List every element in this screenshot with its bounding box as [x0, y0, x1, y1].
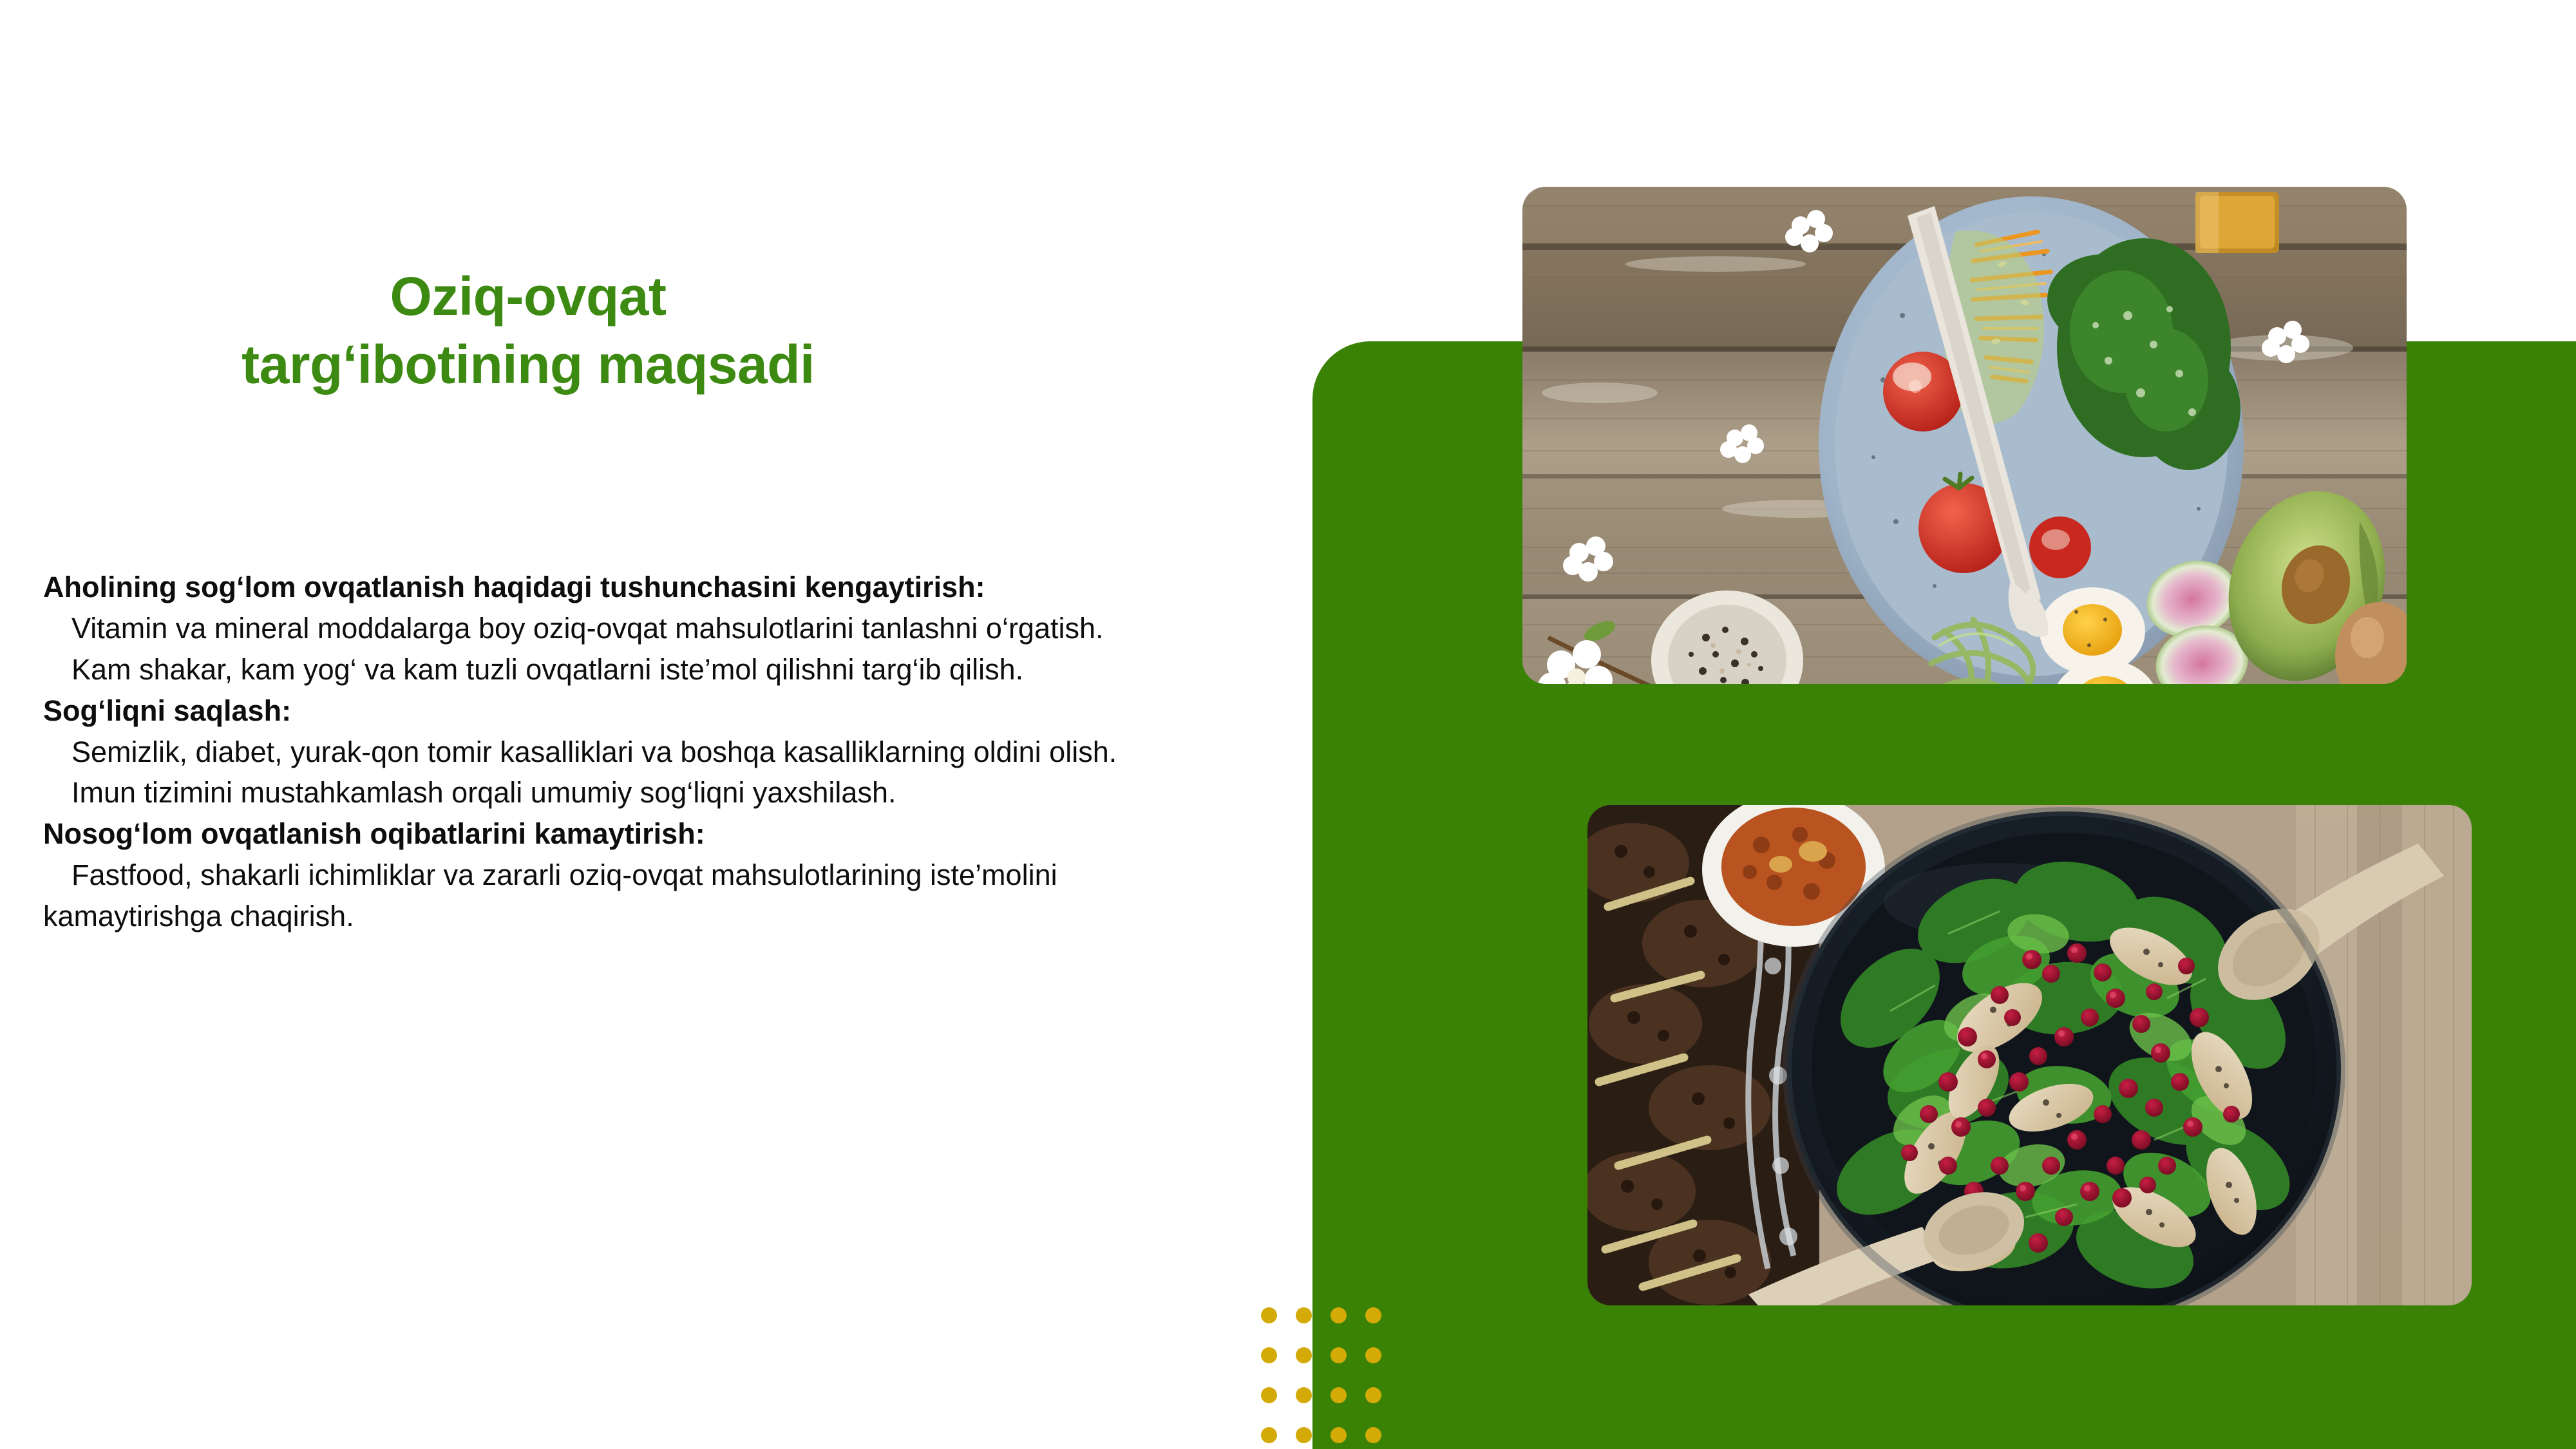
decor-dot [1331, 1307, 1347, 1323]
decor-dot [1331, 1387, 1347, 1403]
decor-dot [1261, 1347, 1277, 1363]
decor-dot [1296, 1387, 1312, 1403]
slide-body: Aholining sog‘lom ovqatlanish haqidagi t… [43, 567, 1202, 937]
slide-title-line-2: targ‘ibotining maqsadi [39, 331, 1018, 399]
healthy-bowl-photo [1522, 187, 2407, 684]
decor-dot [1296, 1347, 1312, 1363]
decor-dot [1365, 1427, 1381, 1443]
body-heading-1: Aholining sog‘lom ovqatlanish haqidagi t… [43, 567, 1202, 608]
spinach-pomegranate-salad-photo [1587, 805, 2472, 1305]
body-item-1: Vitamin va mineral moddalarga boy oziq-o… [43, 608, 1202, 649]
decor-dot [1365, 1387, 1381, 1403]
salad-illustration [1587, 805, 2472, 1305]
body-item-4: Imun tizimini mustahkamlash orqali umumi… [43, 772, 1202, 813]
body-item-2: Kam shakar, kam yog‘ va kam tuzli ovqatl… [43, 649, 1202, 690]
dot-grid-decoration [1261, 1307, 1388, 1449]
decor-dot [1365, 1347, 1381, 1363]
body-item-3: Semizlik, diabet, yurak-qon tomir kasall… [43, 732, 1202, 773]
slide-title-line-1: Oziq-ovqat [39, 263, 1018, 331]
slide-title: Oziq-ovqat targ‘ibotining maqsadi [39, 263, 1018, 399]
decor-dot [1296, 1307, 1312, 1323]
decor-dot [1261, 1387, 1277, 1403]
decor-dot [1261, 1307, 1277, 1323]
decor-dot [1296, 1427, 1312, 1443]
body-item-5: Fastfood, shakarli ichimliklar va zararl… [43, 855, 1202, 937]
body-heading-3: Nosog‘lom ovqatlanish oqibatlarini kamay… [43, 813, 1202, 855]
decor-dot [1365, 1307, 1381, 1323]
healthy-bowl-illustration [1522, 187, 2407, 684]
decor-dot [1331, 1427, 1347, 1443]
decor-dot [1331, 1347, 1347, 1363]
decor-dot [1261, 1427, 1277, 1443]
body-heading-2: Sog‘liqni saqlash: [43, 690, 1202, 732]
